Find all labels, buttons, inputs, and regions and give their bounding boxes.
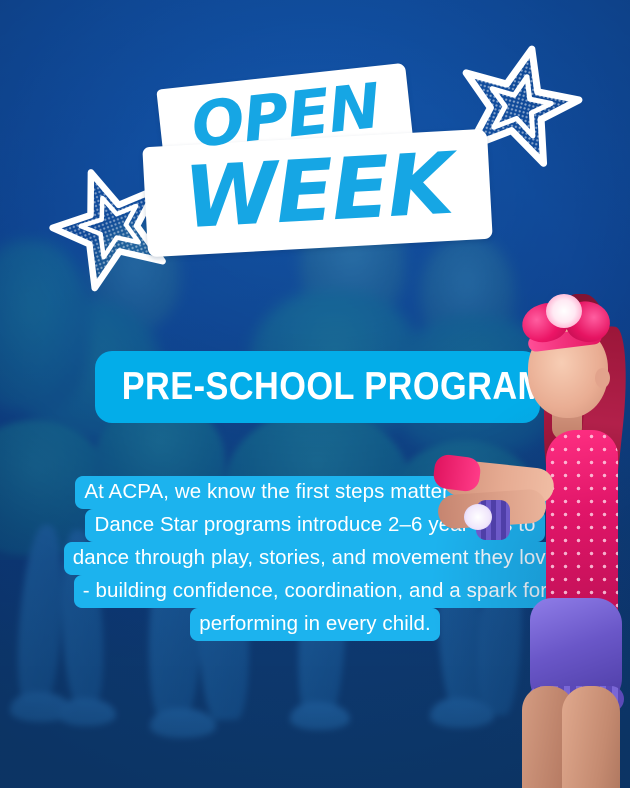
foreground-dancer-photo [500,268,630,788]
body-line-text: performing in every child. [190,608,440,641]
headline-open-week: OPEN WEEK [140,70,500,270]
promo-poster: OPEN WEEK PRE-SCHOOL PROGRAMS At ACPA, w… [0,0,630,788]
headline-word-week: WEEK [143,127,493,244]
